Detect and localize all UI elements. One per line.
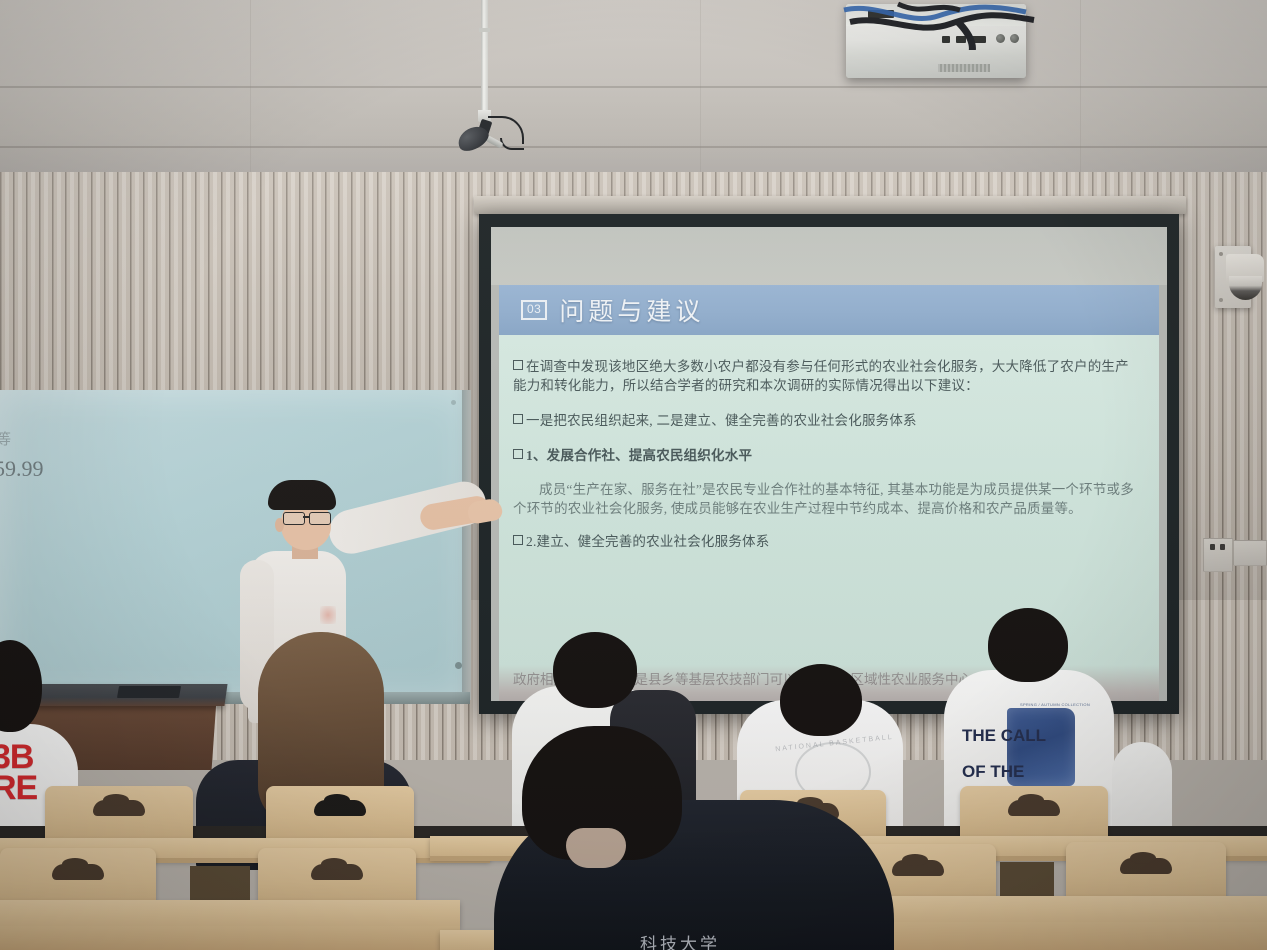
sweatshirt-small-print: SPRING / AUTUMN COLLECTION <box>1020 702 1090 707</box>
screen-housing <box>474 196 1186 214</box>
glasses-icon <box>283 512 333 523</box>
slide-bullet: 1、发展合作社、提高农民组织化水平 <box>513 446 1141 465</box>
classroom-whiteboard <box>0 390 470 700</box>
chair <box>266 786 414 844</box>
chalk-note: 59.99 <box>0 456 44 482</box>
tee-print-text: 3B RE <box>0 742 37 805</box>
projector-cables <box>838 0 1048 50</box>
ceiling-tile-line <box>700 0 701 172</box>
student-right-partial <box>1112 742 1172 838</box>
slide-bullet: 2.建立、健全完善的农业社会化服务体系 <box>513 532 1141 551</box>
ceiling-tile-line <box>1080 0 1081 172</box>
sweatshirt-text-line1: THE CALL <box>962 726 1046 746</box>
wall-data-plate[interactable] <box>1233 540 1267 566</box>
desk-front <box>0 926 460 950</box>
student-nba-hoodie-head <box>780 664 862 736</box>
slide-number: 03 <box>521 300 547 319</box>
presenter-shirt-logo <box>320 606 336 624</box>
bullet-box-icon <box>513 360 523 370</box>
slide-body: 在调查中发现该地区绝大多数小农户都没有参与任何形式的农业社会化服务，大大降低了农… <box>499 335 1159 665</box>
projector-vent <box>938 64 990 72</box>
slide-bullet: 一是把农民组织起来, 二是建立、健全完善的农业社会化服务体系 <box>513 411 1141 430</box>
bullet-box-icon <box>513 414 523 424</box>
ceiling-tile-line <box>250 0 251 172</box>
projection-screen: 03 问题与建议 在调查中发现该地区绝大多数小农户都没有参与任何形式的农业社会化… <box>491 227 1167 701</box>
microphone-pole <box>481 0 488 112</box>
student-sweatshirt-head <box>988 608 1068 682</box>
slide-top-margin <box>491 227 1167 285</box>
presenter-hair <box>268 480 336 510</box>
foreground-student-ear-area <box>566 828 626 868</box>
chalk-note-secondary: 等 <box>0 428 11 449</box>
whiteboard-magnet <box>455 662 462 669</box>
slide-bullet: 在调查中发现该地区绝大多数小农户都没有参与任何形式的农业社会化服务，大大降低了农… <box>513 357 1141 395</box>
classroom-photo: 59.99 等 03 问题与建议 在调查中发现该地区绝大多数小农户都没有参与任何… <box>0 0 1267 950</box>
ceiling-seam <box>0 86 1267 88</box>
slide-title: 问题与建议 <box>559 292 704 328</box>
wall-socket-plate[interactable] <box>1203 538 1233 572</box>
desk <box>0 900 460 928</box>
jacket-print-text: 科技大学 <box>640 930 720 950</box>
slide-paragraph: 成员“生产在家、服务在社”是农民专业合作社的基本特征, 其基本功能是为成员提供某… <box>513 480 1141 518</box>
ceiling-seam <box>0 146 1267 148</box>
chair <box>45 786 193 844</box>
bullet-box-icon <box>513 449 523 459</box>
podium-monitor-slot <box>117 686 181 698</box>
microphone-pole-joint <box>479 28 490 32</box>
whiteboard-frame <box>462 390 471 700</box>
bullet-box-icon <box>513 535 523 545</box>
chair <box>1066 842 1226 904</box>
slide-title-bar: 03 问题与建议 <box>499 285 1159 335</box>
whiteboard-mark <box>451 400 456 405</box>
sweatshirt-text-line2: OF THE <box>962 762 1024 782</box>
student-white-shirt-head <box>553 632 637 708</box>
